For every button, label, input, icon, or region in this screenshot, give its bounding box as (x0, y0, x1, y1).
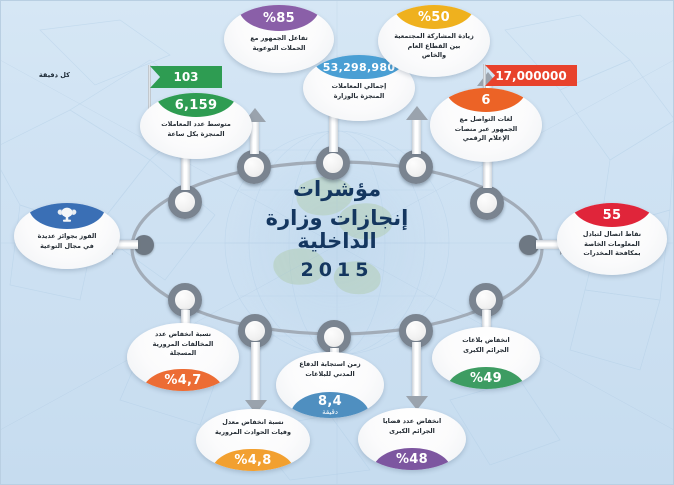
cap-public-interaction: %85 (239, 5, 318, 31)
value-traffic-violations: %4,7 (164, 374, 201, 387)
label-awareness-awards: الفوز بجوائز عديدةفي مجال التوعية (31, 229, 104, 254)
cap-traffic-fatality: %4,8 (212, 449, 294, 471)
value-total-transactions: 53,298,980 (323, 62, 396, 73)
value-public-interaction: %85 (263, 12, 295, 25)
bubble-public-interaction-campaigns[interactable]: %85 تفاعل الجمهور معالحملات التوعوية (224, 5, 334, 73)
label-drug-contact-points: نقاط اتصال لتبادلالمعلومات الخاصةبمكافحة… (576, 227, 648, 262)
label-traffic-violations: نسبة انخفاض عددالمخالفات المروريةالمسجلة (146, 323, 221, 362)
cap-community-participation: %50 (394, 5, 475, 29)
bubble-community-participation[interactable]: %50 زيادة المشاركة المجتمعيةبين القطاع ا… (378, 5, 490, 77)
label-crime-cases: انخفاض عدد قضاياالجرائم الكبرى (376, 408, 448, 439)
label-total-transactions: إجمالي المعاملاتالمنجزة بالوزارة (325, 79, 394, 104)
flag-103-value: 103 (173, 70, 198, 84)
stem-total-transactions (412, 118, 421, 154)
value-crime-cases: %48 (396, 453, 428, 466)
bubble-drug-control-contact-points[interactable]: 55 نقاط اتصال لتبادلالمعلومات الخاصةبمكا… (557, 203, 667, 275)
label-digital-languages: لغات التواصل معالجمهور عبر منصاتالإعلام … (448, 112, 524, 147)
page-title-year: 2015 (237, 260, 437, 281)
value-community-participation: %50 (418, 11, 450, 24)
flag-17m-value: 17,000000 (495, 69, 566, 83)
flag-103-banner: 103 (150, 66, 222, 88)
value-crime-reports: %49 (470, 372, 502, 385)
stem-traffic-fatality (251, 342, 260, 402)
value-drug-contact-points: 55 (603, 209, 622, 222)
ring-node-upper-right (470, 186, 504, 220)
cap-avg-transactions: 6,159 (156, 93, 237, 117)
cap-drug-contact-points: 55 (572, 203, 651, 227)
cap-civil-defense: 8,4 دقيقة (291, 392, 369, 418)
cap-crime-reports: %49 (447, 367, 525, 389)
label-civil-defense: زمن استجابة الدفاعالمدني للبلاغات (292, 352, 367, 382)
flag-17m-banner: 17,000000 (485, 65, 577, 86)
cap-traffic-violations: %4,7 (143, 369, 224, 391)
center-title-block: مؤشرات إنجازات وزارة الداخلية 2015 (237, 178, 437, 281)
infographic-canvas: مؤشرات إنجازات وزارة الداخلية 2015 103 ك… (0, 0, 674, 485)
bubble-major-crime-cases-drop[interactable]: انخفاض عدد قضاياالجرائم الكبرى %48 (358, 408, 466, 470)
value-civil-defense: 8,4 (318, 395, 342, 408)
cap-crime-cases: %48 (373, 448, 451, 470)
value-traffic-fatality: %4,8 (234, 454, 271, 467)
label-crime-reports: انخفاض بلاغاتالجرائم الكبرى (455, 327, 516, 358)
label-avg-transactions: متوسط عدد المعاملاتالمنجزة بكل ساعة (154, 117, 238, 142)
bubble-major-crime-reports-drop[interactable]: انخفاض بلاغاتالجرائم الكبرى %49 (432, 327, 540, 389)
value-avg-transactions: 6,159 (175, 99, 218, 112)
bubble-civil-defense-response-time[interactable]: زمن استجابة الدفاعالمدني للبلاغات 8,4 دق… (276, 352, 384, 418)
bubble-avg-transactions-per-hour[interactable]: 6,159 متوسط عدد المعاملاتالمنجزة بكل ساع… (140, 93, 252, 159)
cap-awareness-awards (29, 203, 105, 229)
bubble-awareness-awards[interactable]: الفوز بجوائز عديدةفي مجال التوعية (14, 203, 120, 269)
label-public-interaction: تفاعل الجمهور معالحملات التوعوية (243, 31, 315, 56)
bubble-traffic-fatality-rate-drop[interactable]: نسبة انخفاض معدلوفيات الحوادث المرورية %… (196, 409, 310, 471)
label-traffic-fatality: نسبة انخفاض معدلوفيات الحوادث المرورية (208, 409, 298, 440)
page-title-line2: إنجازات وزارة الداخلية (237, 207, 437, 253)
stem-crime-cases (412, 342, 421, 398)
bubble-digital-media-languages[interactable]: 6 لغات التواصل معالجمهور عبر منصاتالإعلا… (430, 88, 542, 162)
cap-digital-languages: 6 (446, 88, 527, 112)
label-community-participation: زيادة المشاركة المجتمعيةبين القطاع العام… (387, 29, 481, 64)
ring-node-upper-left (168, 185, 202, 219)
page-title-line1: مؤشرات (237, 178, 437, 201)
trophy-icon (56, 205, 78, 227)
unit-civil-defense: دقيقة (322, 409, 338, 416)
flag-103-note: كل دقيقة (39, 71, 70, 79)
bubble-traffic-violations-drop[interactable]: نسبة انخفاض عددالمخالفات المروريةالمسجلة… (127, 323, 239, 391)
value-digital-languages: 6 (481, 94, 490, 107)
arrow-total-transactions (406, 106, 428, 120)
